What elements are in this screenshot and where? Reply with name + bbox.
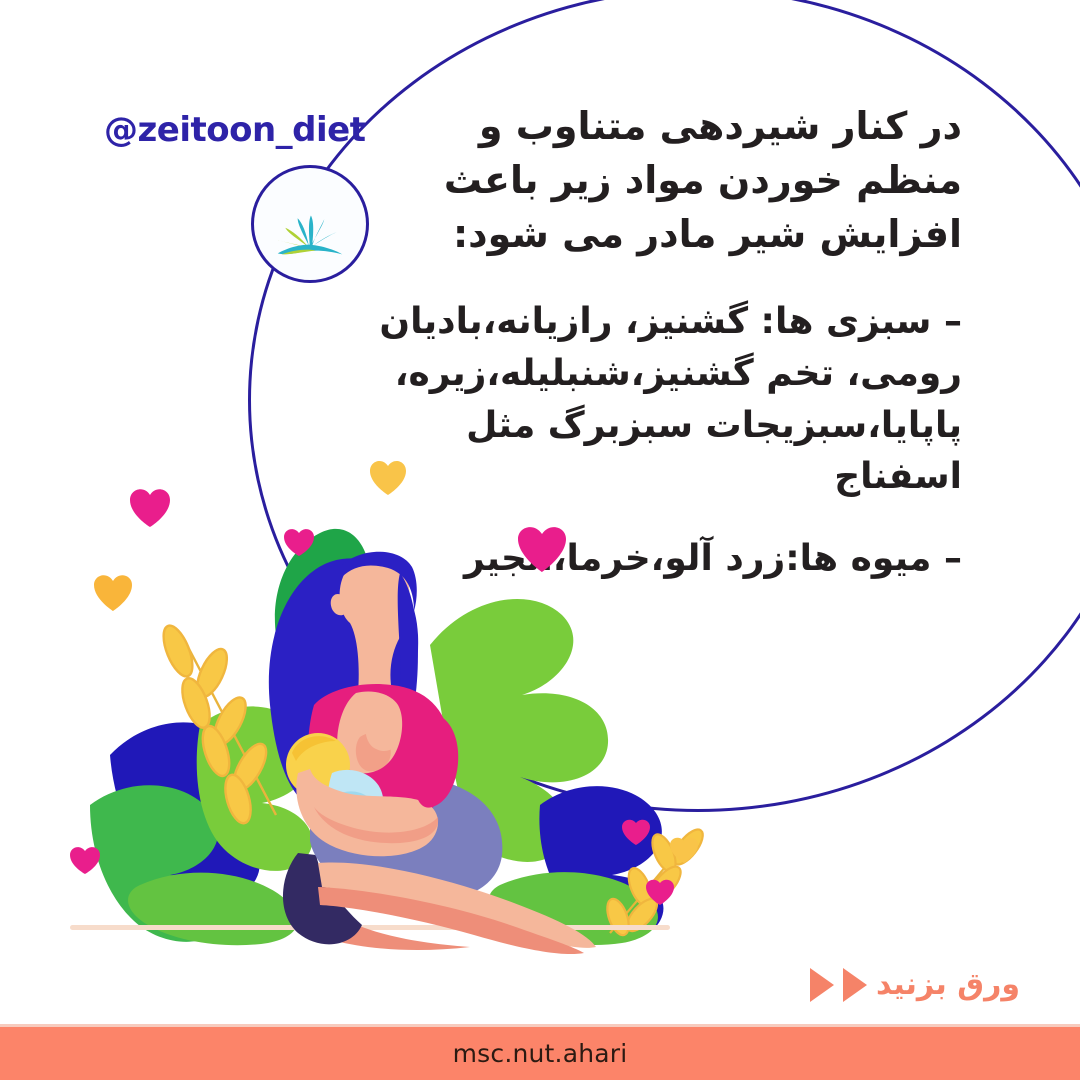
post-canvas: @zeitoon_diet Zeitoon در کنار ش xyxy=(0,0,1080,1080)
lead-paragraph: در کنار شیردهی متناوب و منظم خوردن مواد … xyxy=(362,100,962,262)
footer-handle[interactable]: msc.nut.ahari xyxy=(453,1039,628,1068)
brand-logo-badge[interactable]: Zeitoon xyxy=(251,165,369,283)
triangle-right-icon-2 xyxy=(810,968,834,1002)
ground-line xyxy=(70,925,670,930)
footer-bar: msc.nut.ahari xyxy=(0,1027,1080,1080)
triangle-right-icon xyxy=(843,968,867,1002)
instagram-handle[interactable]: @zeitoon_diet xyxy=(104,110,365,150)
zeitoon-logo-icon: Zeitoon xyxy=(254,168,366,280)
swipe-cta-label: ورق بزنید xyxy=(876,967,1020,1002)
breastfeeding-mother-illustration xyxy=(70,455,710,1015)
svg-text:Zeitoon: Zeitoon xyxy=(254,168,263,173)
swipe-cta[interactable]: ورق بزنید xyxy=(810,967,1020,1002)
